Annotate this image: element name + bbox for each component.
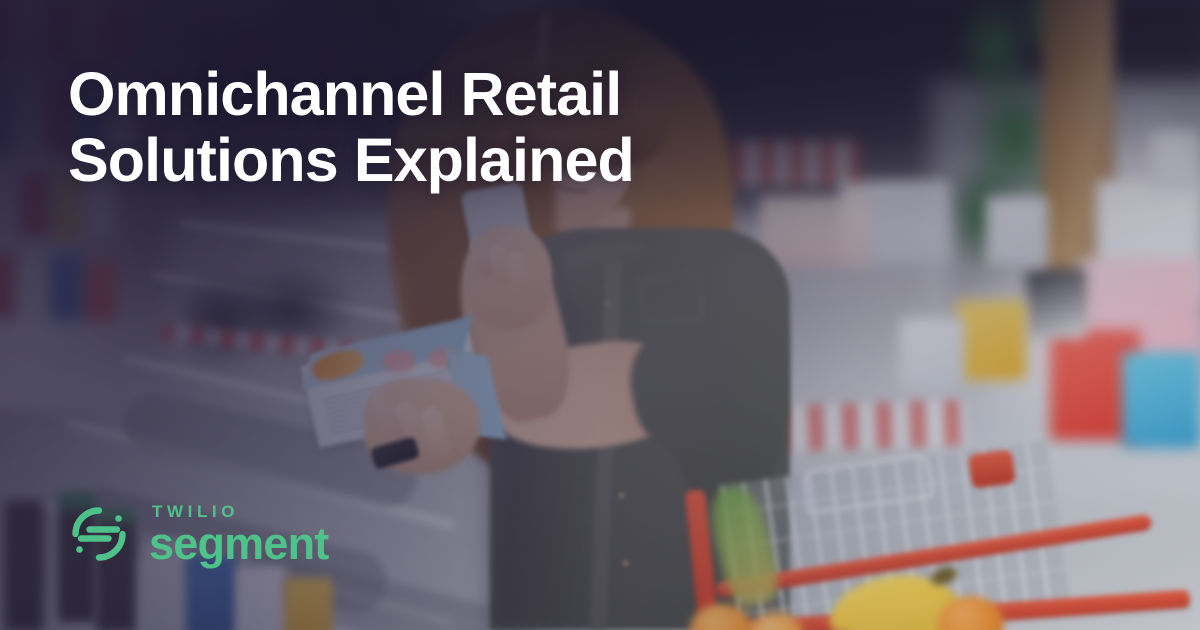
social-card: Omnichannel RetailSolutions Explained TW…: [0, 0, 1200, 630]
title-line-2: Solutions Explained: [68, 128, 708, 194]
twilio-segment-logo[interactable]: TWILIO segment: [68, 503, 328, 566]
logo-segment-text: segment: [149, 523, 328, 566]
page-title: Omnichannel RetailSolutions Explained: [68, 62, 708, 194]
logo-wordmark: TWILIO segment: [149, 503, 328, 566]
segment-logo-mark: [68, 503, 130, 565]
title-line-1: Omnichannel Retail: [68, 60, 621, 128]
